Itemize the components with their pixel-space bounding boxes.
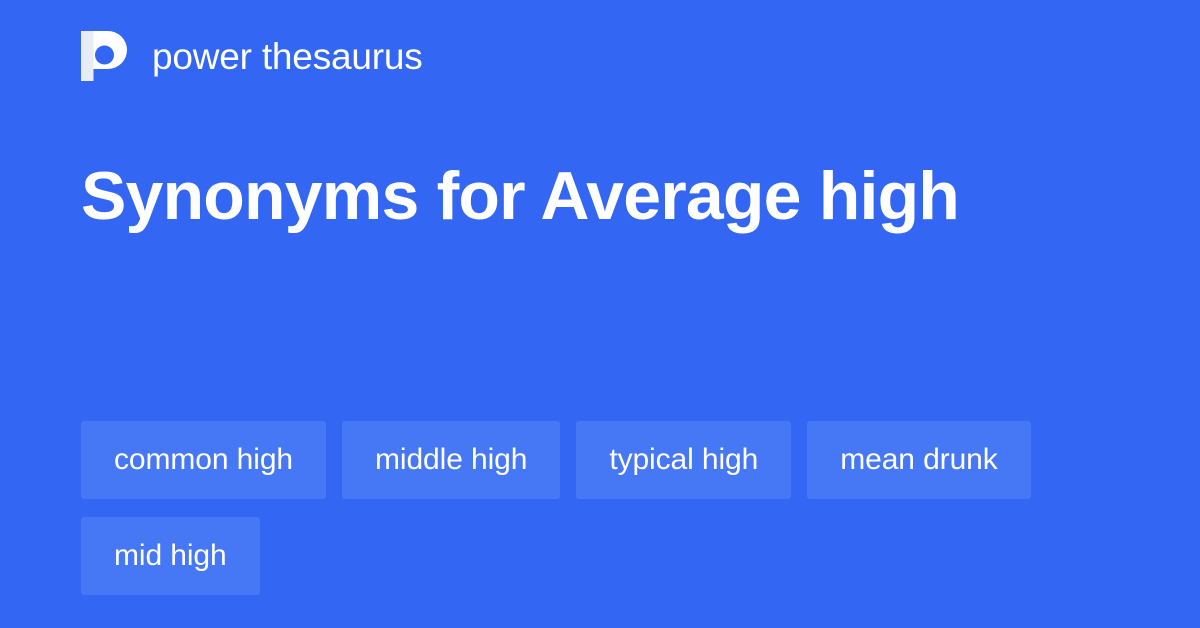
synonym-chip[interactable]: typical high — [576, 421, 791, 499]
synonym-chip[interactable]: middle high — [342, 421, 560, 499]
synonym-chip[interactable]: mean drunk — [807, 421, 1030, 499]
brand-header[interactable]: power thesaurus — [81, 30, 423, 82]
synonym-chip-label: mean drunk — [840, 443, 997, 477]
synonym-chip-label: middle high — [375, 443, 527, 477]
power-thesaurus-b-logo-icon — [81, 31, 127, 81]
synonym-chip-label: mid high — [114, 539, 227, 573]
page-root: power thesaurus Synonyms for Average hig… — [0, 0, 1200, 628]
synonym-chip-label: typical high — [609, 443, 758, 477]
synonym-chip-list: common high middle high typical high mea… — [81, 421, 1121, 595]
synonym-chip-label: common high — [114, 443, 293, 477]
synonym-chip[interactable]: mid high — [81, 517, 260, 595]
synonym-chip[interactable]: common high — [81, 421, 326, 499]
brand-name: power thesaurus — [152, 38, 423, 75]
page-title: Synonyms for Average high — [81, 142, 1021, 250]
